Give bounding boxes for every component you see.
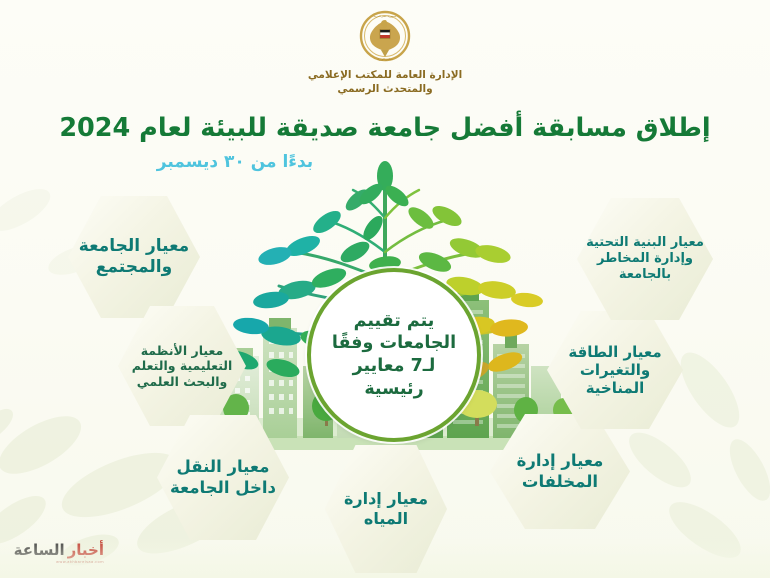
page-title: إطلاق مسابقة أفضل جامعة صديقة للبيئة لعا… bbox=[0, 113, 770, 143]
criterion-label-water: معيار إدارة المياه bbox=[325, 489, 447, 528]
svg-text:مجلس الوزراء: مجلس الوزراء bbox=[377, 58, 393, 61]
criterion-label-infrastructure: معيار البنية التحتية وإدارة المخاطر بالج… bbox=[577, 235, 713, 283]
header-logo-block: جمهورية مصر العربية مجلس الوزراء الإدارة… bbox=[0, 10, 770, 96]
criterion-label-community: معيار الجامعة والمجتمع bbox=[68, 236, 200, 277]
central-circle-text: يتم تقييم الجامعات وفقًا لـ7 معايير رئيس… bbox=[322, 310, 467, 401]
infographic-canvas: جمهورية مصر العربية مجلس الوزراء الإدارة… bbox=[0, 0, 770, 578]
logo-caption-line-1: الإدارة العامة للمكتب الإعلامي bbox=[308, 69, 462, 81]
logo-caption-line-2: والمتحدث الرسمي bbox=[0, 82, 770, 96]
central-criteria-circle: يتم تقييم الجامعات وفقًا لـ7 معايير رئيس… bbox=[307, 268, 481, 442]
criterion-label-energy: معيار الطاقة والتغيرات المناخية bbox=[547, 343, 683, 398]
egypt-eagle-emblem-icon: جمهورية مصر العربية مجلس الوزراء bbox=[354, 10, 416, 64]
logo-caption: الإدارة العامة للمكتب الإعلامي والمتحدث … bbox=[0, 68, 770, 96]
criterion-hex-infrastructure[interactable]: معيار البنية التحتية وإدارة المخاطر بالج… bbox=[577, 198, 713, 320]
criterion-label-transport: معيار النقل داخل الجامعة bbox=[157, 457, 289, 497]
criterion-label-education: معيار الأنظمة التعليمية والتعلم والبحث ا… bbox=[118, 343, 246, 389]
criterion-label-waste: معيار إدارة المخلفات bbox=[490, 451, 630, 491]
svg-text:جمهورية مصر العربية: جمهورية مصر العربية bbox=[374, 15, 397, 18]
